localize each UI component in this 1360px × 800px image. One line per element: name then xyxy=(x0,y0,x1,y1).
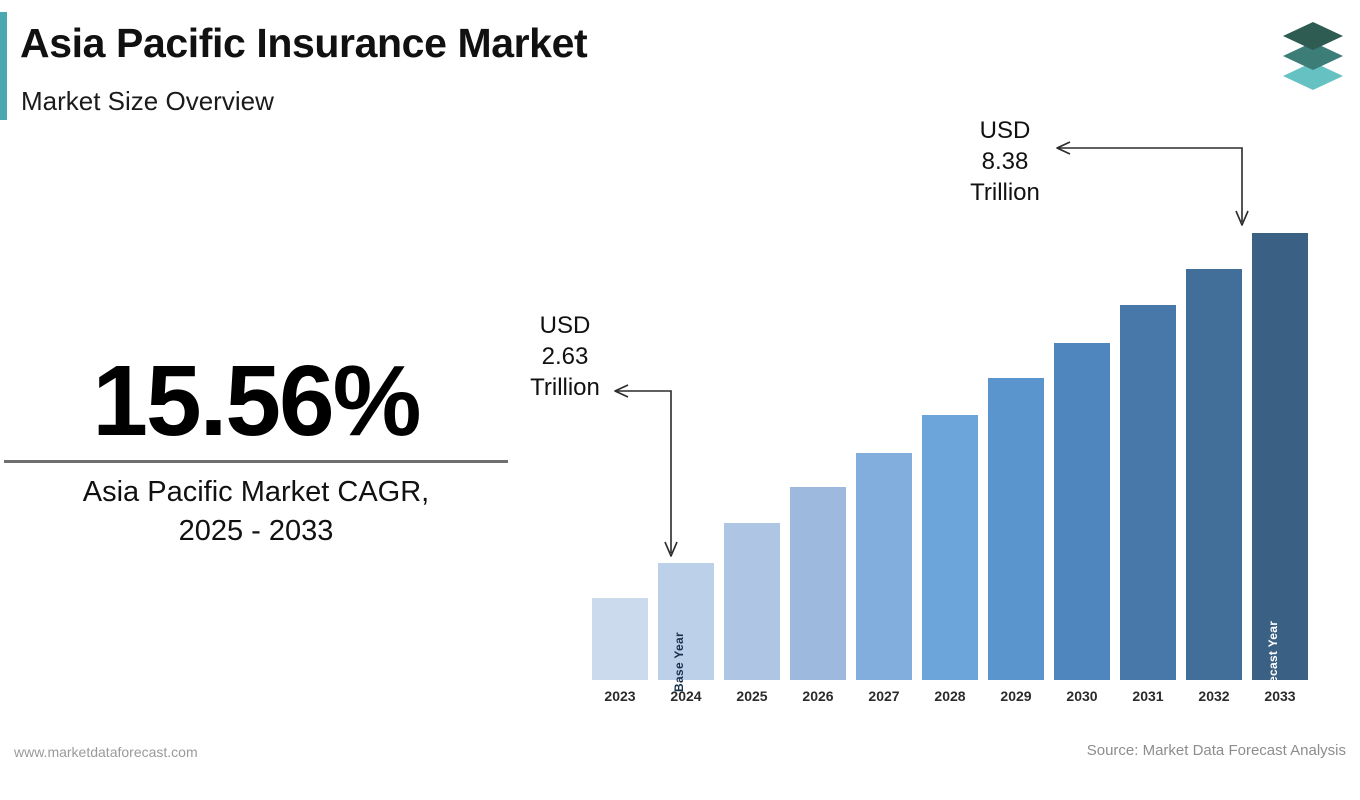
x-axis-tick-2024: 2024 xyxy=(658,688,714,704)
x-axis-tick-2028: 2028 xyxy=(922,688,978,704)
stacked-layers-icon xyxy=(1274,18,1352,90)
bar-2025 xyxy=(724,523,780,680)
x-axis-tick-2023: 2023 xyxy=(592,688,648,704)
header: Asia Pacific Insurance Market Market Siz… xyxy=(0,8,820,118)
bar-2029 xyxy=(988,378,1044,680)
bar-2031 xyxy=(1120,305,1176,680)
bar-2024: Base Year xyxy=(658,563,714,680)
accent-bar xyxy=(0,12,7,120)
footer-website: www.marketdataforecast.com xyxy=(14,744,198,760)
bar-chart: 2023Base Year202420252026202720282029203… xyxy=(560,110,1280,720)
page-subtitle: Market Size Overview xyxy=(21,86,274,117)
bar-label-base-year: Base Year xyxy=(672,632,686,692)
bar-2026 xyxy=(790,487,846,680)
x-axis-tick-2026: 2026 xyxy=(790,688,846,704)
bar-2023 xyxy=(592,598,648,680)
footer-source: Source: Market Data Forecast Analysis xyxy=(1087,742,1346,759)
stacked-layers-logo xyxy=(1274,18,1352,90)
bar-2030 xyxy=(1054,343,1110,680)
cagr-value: 15.56% xyxy=(0,350,512,452)
x-axis-tick-2027: 2027 xyxy=(856,688,912,704)
x-axis-tick-2031: 2031 xyxy=(1120,688,1176,704)
page-title: Asia Pacific Insurance Market xyxy=(20,20,587,67)
cagr-caption-line1: Asia Pacific Market CAGR, xyxy=(0,473,512,512)
bar-2033: Forecast Year xyxy=(1252,233,1308,680)
x-axis-tick-2030: 2030 xyxy=(1054,688,1110,704)
bar-2028 xyxy=(922,415,978,680)
cagr-caption-line2: 2025 - 2033 xyxy=(0,512,512,551)
bar-2032 xyxy=(1186,269,1242,680)
bar-2027 xyxy=(856,453,912,680)
cagr-divider xyxy=(4,460,508,463)
cagr-block: 15.56% Asia Pacific Market CAGR, 2025 - … xyxy=(0,350,512,550)
x-axis-tick-2029: 2029 xyxy=(988,688,1044,704)
cagr-caption: Asia Pacific Market CAGR, 2025 - 2033 xyxy=(0,473,512,550)
x-axis-tick-2032: 2032 xyxy=(1186,688,1242,704)
x-axis-tick-2033: 2033 xyxy=(1252,688,1308,704)
chart-plot-area: 2023Base Year202420252026202720282029203… xyxy=(576,110,1280,680)
x-axis-tick-2025: 2025 xyxy=(724,688,780,704)
